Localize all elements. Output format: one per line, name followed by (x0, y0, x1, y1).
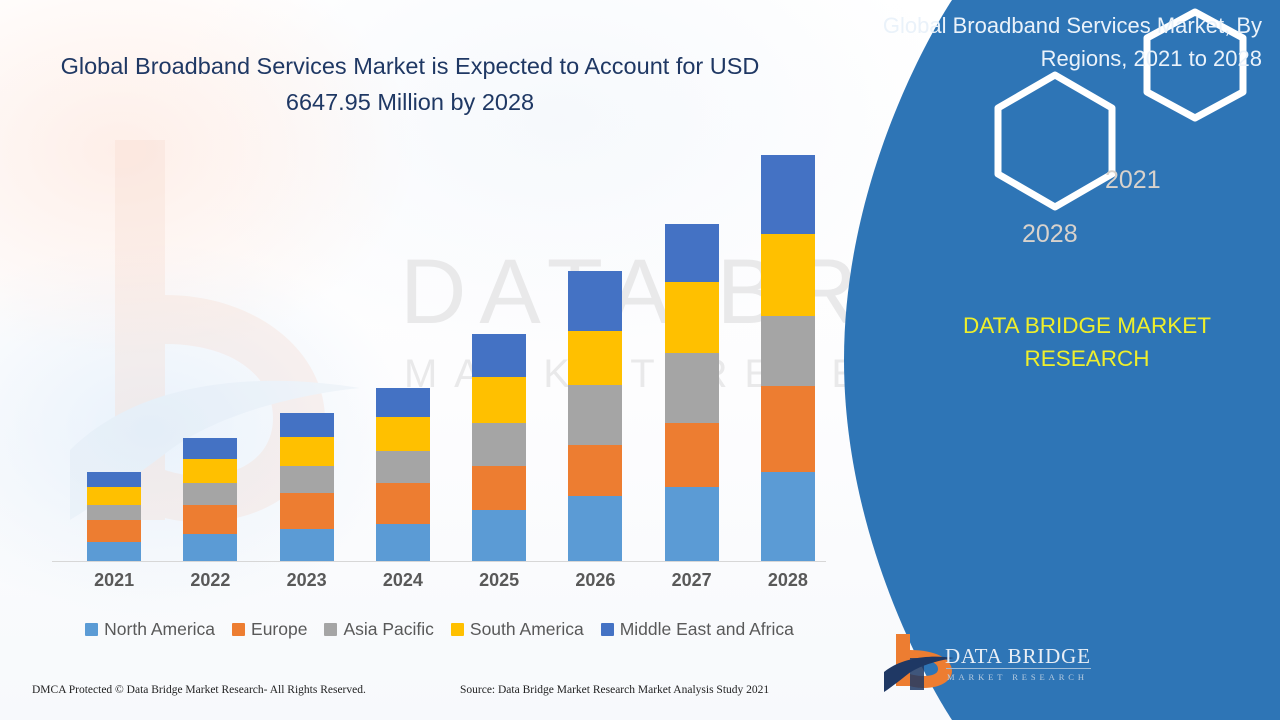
bar-segment[interactable] (376, 483, 430, 524)
logo-divider (946, 668, 1091, 669)
infographic-canvas: DATA BRIDGE MARKET RESEARCH Global Broad… (0, 0, 1280, 720)
x-tick-2021: 2021 (74, 570, 154, 591)
bar-segment[interactable] (568, 271, 622, 330)
x-tick-2022: 2022 (170, 570, 250, 591)
bar-segment[interactable] (472, 377, 526, 422)
bar-segment[interactable] (761, 316, 815, 386)
bar-2025[interactable] (472, 334, 526, 561)
bar-segment[interactable] (472, 423, 526, 466)
x-tick-2028: 2028 (748, 570, 828, 591)
legend-item-europe[interactable]: Europe (232, 619, 307, 640)
bar-segment[interactable] (472, 466, 526, 510)
bar-segment[interactable] (665, 282, 719, 353)
bar-segment[interactable] (472, 334, 526, 377)
bar-2021[interactable] (87, 472, 141, 561)
legend-swatch-icon (85, 623, 98, 636)
bar-segment[interactable] (568, 496, 622, 561)
legend-item-middle-east-and-africa[interactable]: Middle East and Africa (601, 619, 794, 640)
legend-item-north-america[interactable]: North America (85, 619, 215, 640)
legend-swatch-icon (451, 623, 464, 636)
source-notice: Source: Data Bridge Market Research Mark… (460, 684, 769, 696)
hexagon-2021-label: 2021 (1105, 166, 1161, 195)
bar-segment[interactable] (183, 505, 237, 534)
bar-segment[interactable] (665, 423, 719, 488)
legend-label: Asia Pacific (343, 619, 433, 640)
hexagon-2028-label: 2028 (1022, 220, 1078, 249)
bar-segment[interactable] (280, 529, 334, 561)
bar-segment[interactable] (87, 487, 141, 504)
legend-label: Middle East and Africa (620, 619, 794, 640)
brand-name: DATA BRIDGE MARKET RESEARCH (922, 310, 1252, 375)
x-tick-2023: 2023 (267, 570, 347, 591)
bar-segment[interactable] (87, 505, 141, 520)
bar-segment[interactable] (183, 459, 237, 483)
bar-segment[interactable] (280, 493, 334, 529)
bar-2022[interactable] (183, 438, 237, 561)
bar-segment[interactable] (761, 386, 815, 473)
x-tick-2026: 2026 (555, 570, 635, 591)
bar-segment[interactable] (183, 483, 237, 505)
bar-segment[interactable] (568, 331, 622, 385)
legend-swatch-icon (232, 623, 245, 636)
bar-segment[interactable] (183, 438, 237, 460)
x-axis-tick-labels: 20212022202320242025202620272028 (52, 570, 822, 600)
copyright-notice: DMCA Protected © Data Bridge Market Rese… (32, 684, 366, 696)
bar-segment[interactable] (376, 388, 430, 417)
bar-segment[interactable] (183, 534, 237, 561)
bar-segment[interactable] (87, 520, 141, 542)
bar-segment[interactable] (280, 466, 334, 493)
chart-legend: North AmericaEuropeAsia PacificSouth Ame… (52, 614, 827, 644)
bar-segment[interactable] (280, 413, 334, 437)
hexagon-2028-outline (998, 75, 1112, 207)
page-title: Global Broadband Services Market is Expe… (30, 48, 790, 121)
bar-segment[interactable] (568, 445, 622, 496)
bar-segment[interactable] (761, 155, 815, 234)
bar-2027[interactable] (665, 224, 719, 561)
panel-title: Global Broadband Services Market, By Reg… (862, 10, 1262, 75)
legend-swatch-icon (601, 623, 614, 636)
bar-segment[interactable] (376, 451, 430, 483)
logo-secondary-text: MARKET RESEARCH (947, 672, 1088, 682)
bar-segment[interactable] (568, 385, 622, 446)
bar-2023[interactable] (280, 413, 334, 561)
legend-swatch-icon (324, 623, 337, 636)
legend-item-asia-pacific[interactable]: Asia Pacific (324, 619, 433, 640)
bar-2026[interactable] (568, 271, 622, 561)
legend-label: Europe (251, 619, 307, 640)
bar-segment[interactable] (665, 487, 719, 561)
bar-2028[interactable] (761, 155, 815, 561)
bar-segment[interactable] (280, 437, 334, 466)
logo-primary-text: DATA BRIDGE (945, 644, 1091, 669)
x-tick-2025: 2025 (459, 570, 539, 591)
bar-segment[interactable] (665, 224, 719, 282)
bar-2024[interactable] (376, 388, 430, 561)
bar-segment[interactable] (665, 353, 719, 422)
legend-item-south-america[interactable]: South America (451, 619, 584, 640)
x-tick-2027: 2027 (652, 570, 732, 591)
legend-label: North America (104, 619, 215, 640)
bar-segment[interactable] (472, 510, 526, 561)
bar-segment[interactable] (376, 417, 430, 451)
x-axis-line (52, 561, 826, 562)
bar-segment[interactable] (761, 234, 815, 315)
bar-segment[interactable] (761, 472, 815, 561)
chart-plot-area (52, 150, 822, 562)
x-tick-2024: 2024 (363, 570, 443, 591)
bar-segment[interactable] (87, 542, 141, 561)
legend-label: South America (470, 619, 584, 640)
stacked-bar-chart (52, 150, 822, 562)
bar-segment[interactable] (376, 524, 430, 561)
bar-segment[interactable] (87, 472, 141, 487)
